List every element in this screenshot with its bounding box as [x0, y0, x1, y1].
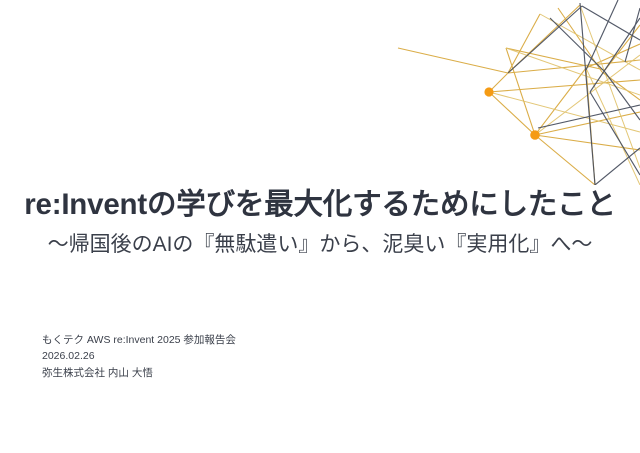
title-slide: re:Inventの学びを最大化するためにしたこと 〜帰国後のAIの『無駄遣い』… — [0, 0, 640, 453]
page-subtitle: 〜帰国後のAIの『無駄遣い』から、泥臭い『実用化』へ〜 — [0, 231, 640, 258]
page-title: re:Inventの学びを最大化するためにしたこと — [0, 186, 640, 224]
network-node-2 — [530, 130, 540, 140]
meta-event-name: もくテク AWS re:Invent 2025 参加報告会 — [42, 332, 236, 348]
meta-date: 2026.02.26 — [42, 348, 236, 364]
network-nodes — [484, 87, 539, 139]
network-lines-gold — [398, 5, 640, 185]
network-constellation-graphic — [390, 0, 640, 185]
meta-presenter: 弥生株式会社 内山 大悟 — [42, 365, 236, 381]
presentation-meta: もくテク AWS re:Invent 2025 参加報告会 2026.02.26… — [42, 332, 236, 381]
network-lines-navy — [508, 0, 640, 185]
network-lines-gold-light — [489, 5, 640, 185]
title-block: re:Inventの学びを最大化するためにしたこと 〜帰国後のAIの『無駄遣い』… — [0, 186, 640, 258]
network-node-1 — [484, 87, 493, 96]
